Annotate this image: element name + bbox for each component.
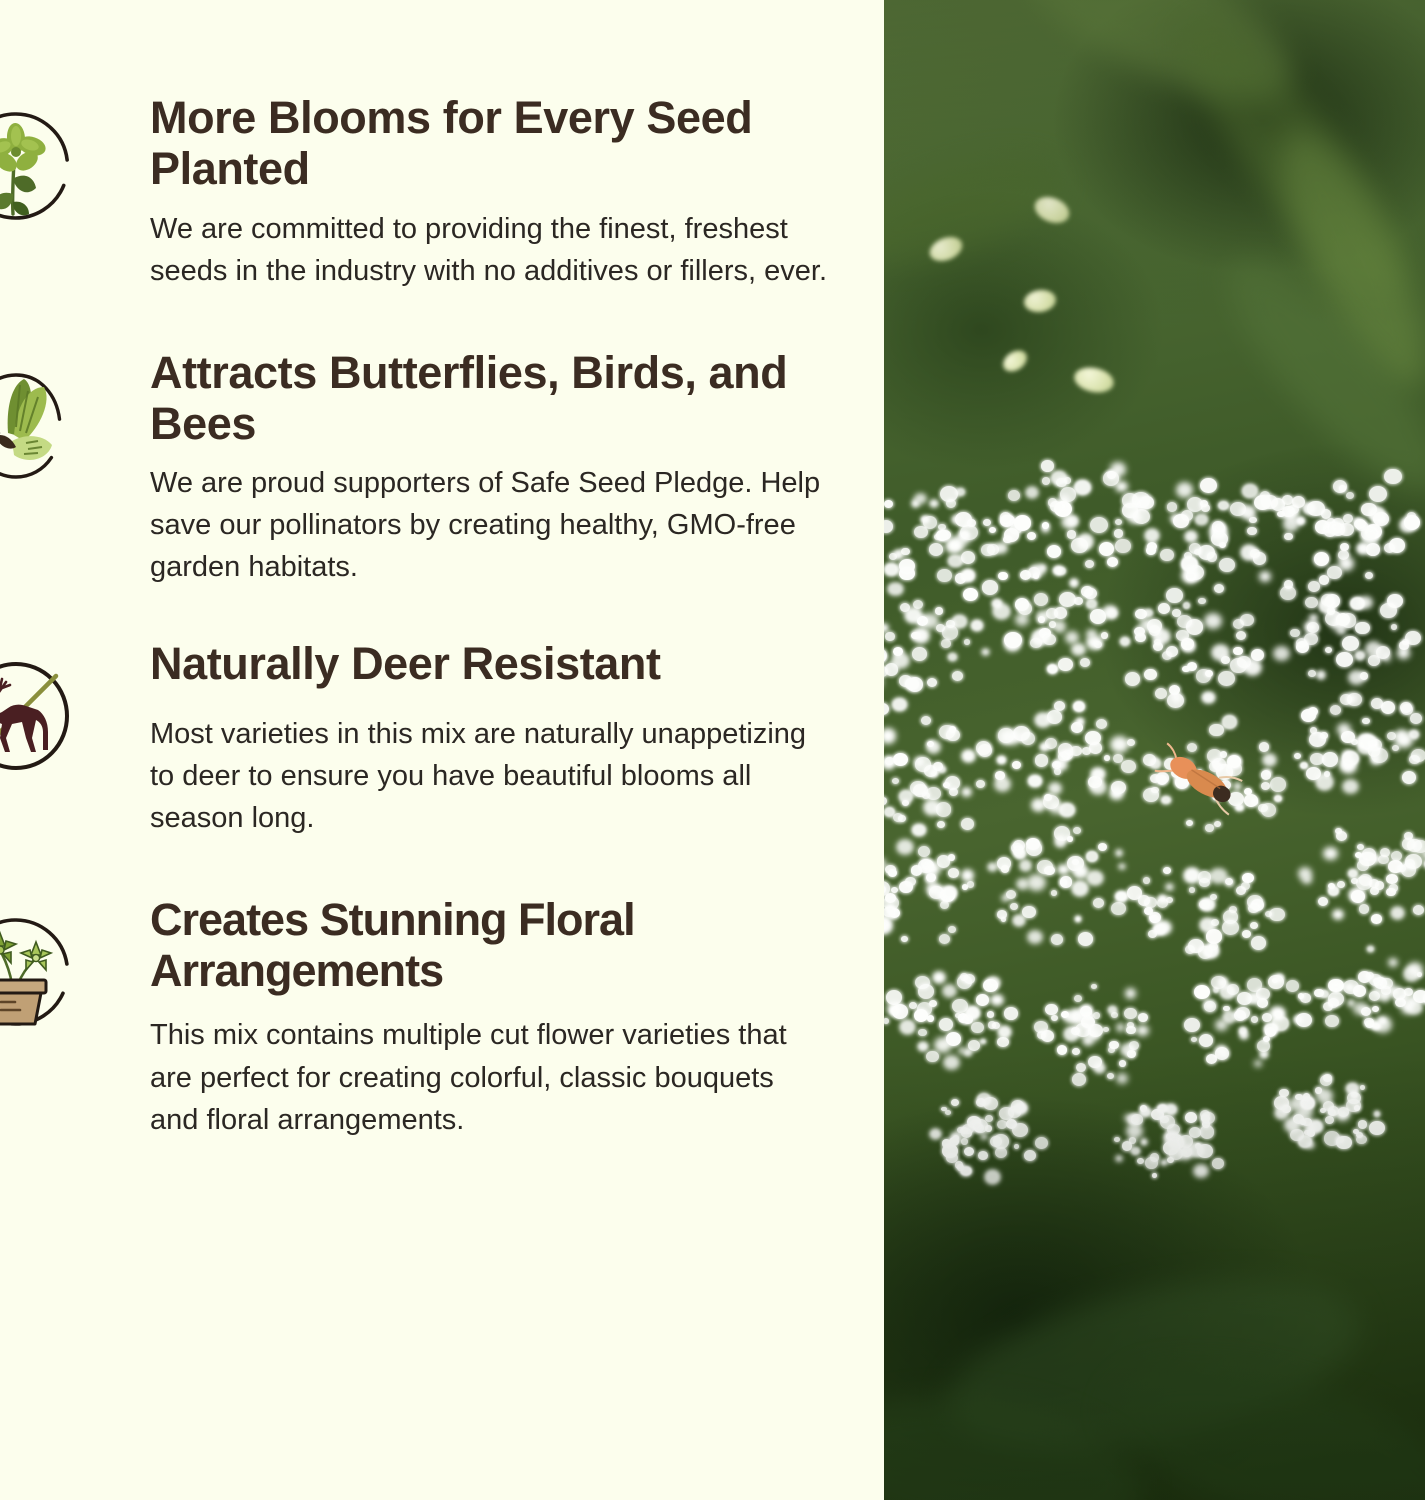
flower-floret <box>933 972 945 983</box>
flower-floret <box>1072 644 1085 656</box>
flower-floret <box>1389 884 1397 892</box>
flower-floret <box>1305 597 1318 609</box>
benefit-item: Naturally Deer Resistant Most varieties … <box>0 638 884 838</box>
flower-floret <box>1369 1121 1385 1135</box>
flower-floret <box>945 1110 951 1116</box>
flower-floret <box>1127 1050 1137 1059</box>
flower-floret <box>974 1123 982 1130</box>
flower-floret <box>942 1144 958 1158</box>
flower-floret <box>1357 844 1364 850</box>
flower-floret <box>1143 877 1151 884</box>
flower-floret <box>1338 724 1350 735</box>
benefit-description: This mix contains multiple cut flower va… <box>150 1014 829 1140</box>
flower-in-circle-icon <box>0 102 80 230</box>
flower-floret <box>1028 875 1045 890</box>
flower-floret <box>1347 694 1357 703</box>
flower-floret <box>940 901 950 910</box>
flower-floret <box>1411 749 1425 763</box>
flower-floret <box>955 1013 961 1019</box>
potted-plant-in-circle-icon <box>0 908 80 1036</box>
flower-floret <box>1336 1109 1349 1120</box>
flower-floret <box>1320 1108 1326 1113</box>
flower-floret <box>971 1022 984 1033</box>
flower-floret <box>929 543 943 556</box>
flower-floret <box>1205 614 1221 629</box>
flower-floret <box>913 600 923 609</box>
flower-floret <box>951 1099 959 1106</box>
flower-floret <box>948 926 956 933</box>
flower-floret <box>939 1018 953 1031</box>
benefit-item: Attracts Butterflies, Birds, and Bees We… <box>0 347 884 589</box>
flower-floret <box>1387 732 1396 740</box>
flower-floret <box>1122 1141 1133 1151</box>
flower-floret <box>946 729 960 742</box>
flower-floret <box>1141 1139 1148 1145</box>
flower-floret <box>884 703 889 715</box>
flower-floret <box>1067 530 1076 538</box>
flower-floret <box>1227 880 1234 886</box>
flower-floret <box>1279 1089 1289 1098</box>
flower-floret <box>1317 1089 1333 1103</box>
flower-floret <box>1137 1026 1147 1035</box>
flower-floret <box>1314 552 1329 566</box>
flower-floret <box>1199 900 1210 910</box>
flower-floret <box>936 802 952 816</box>
flower-floret <box>930 770 938 777</box>
flower-floret <box>964 639 971 645</box>
flower-floret <box>1379 991 1390 1001</box>
flower-floret <box>1355 651 1365 660</box>
flower-floret <box>1325 1116 1334 1124</box>
flower-floret <box>1230 658 1246 673</box>
flower-floret <box>912 500 920 507</box>
flower-floret <box>1205 670 1213 677</box>
flower-floret <box>1016 614 1028 625</box>
flower-floret <box>1166 646 1179 657</box>
flower-floret <box>1402 838 1415 850</box>
flower-floret <box>1240 614 1254 627</box>
flower-floret <box>914 526 928 539</box>
flower-floret <box>1091 984 1097 990</box>
flower-floret <box>1261 770 1272 780</box>
flower-floret <box>1380 848 1390 857</box>
flower-floret <box>1138 1013 1148 1022</box>
flower-floret <box>893 647 903 656</box>
flower-floret <box>885 632 895 641</box>
flower-floret <box>1398 648 1409 658</box>
flower-floret <box>1176 630 1189 641</box>
flower-floret <box>1248 904 1258 913</box>
flower-floret <box>884 729 895 742</box>
flower-floret <box>1257 1040 1270 1052</box>
flower-floret <box>997 756 1005 764</box>
flower-floret <box>1327 566 1342 580</box>
flower-floret <box>943 985 956 997</box>
soldier-beetle <box>1150 740 1254 820</box>
flower-floret <box>1307 501 1325 517</box>
flower-floret <box>1140 496 1154 509</box>
flower-floret <box>1392 745 1399 751</box>
flower-floret <box>1268 975 1284 989</box>
flower-floret <box>1134 627 1144 636</box>
flower-floret <box>884 797 887 805</box>
flower-floret <box>983 1097 998 1111</box>
flower-floret <box>1218 501 1229 510</box>
flower-floret <box>1050 501 1062 512</box>
flower-floret <box>1145 1157 1158 1169</box>
flower-floret <box>1056 478 1067 488</box>
flower-floret <box>1087 871 1103 886</box>
flower-floret <box>1402 771 1416 784</box>
flower-floret <box>1163 1141 1179 1155</box>
flower-floret <box>893 753 908 767</box>
flower-floret <box>1122 503 1139 518</box>
flower-floret <box>1120 637 1131 647</box>
flower-floret <box>963 588 978 602</box>
flower-floret <box>961 569 975 582</box>
flower-floret <box>1137 1158 1144 1164</box>
flower-floret <box>1014 1144 1020 1149</box>
benefit-description: Most varieties in this mix are naturally… <box>150 713 829 839</box>
flower-floret <box>1355 852 1362 858</box>
flower-floret <box>1124 1008 1137 1020</box>
flower-floret <box>1043 634 1055 645</box>
flower-floret <box>1184 868 1201 883</box>
flower-floret <box>1000 512 1011 522</box>
flower-floret <box>1073 827 1081 834</box>
flower-floret <box>1354 1003 1366 1014</box>
flower-floret <box>1155 688 1167 699</box>
flower-floret <box>964 974 975 984</box>
flower-floret <box>1127 1022 1133 1028</box>
flower-floret <box>1101 632 1109 639</box>
flower-floret <box>927 678 937 687</box>
benefit-description: We are committed to providing the finest… <box>150 208 829 292</box>
flower-floret <box>1108 1006 1116 1014</box>
flower-floret <box>1254 495 1271 510</box>
flower-floret <box>1072 881 1089 896</box>
flower-floret <box>1339 485 1347 492</box>
flower-floret <box>1290 629 1300 638</box>
flower-floret <box>1314 989 1323 998</box>
flower-floret <box>1115 539 1130 553</box>
flower-floret <box>1274 795 1282 802</box>
flower-floret <box>1194 985 1210 999</box>
flower-floret <box>959 1048 965 1053</box>
flower-floret <box>1167 502 1178 512</box>
flower-floret <box>1251 936 1266 950</box>
flower-floret <box>1342 751 1359 766</box>
flower-floret <box>1236 1007 1250 1019</box>
flower-floret <box>1255 1061 1261 1066</box>
flower-floret <box>1083 1036 1093 1045</box>
product-benefits-page: More Blooms for Every Seed Planted We ar… <box>0 0 1425 1500</box>
flower-floret <box>1284 580 1294 589</box>
flower-floret <box>1037 860 1053 874</box>
flower-floret <box>1207 552 1217 561</box>
flower-floret <box>937 821 945 828</box>
butterfly-in-circle-icon <box>0 361 80 489</box>
flower-floret <box>1103 471 1119 486</box>
flower-floret <box>1028 775 1042 788</box>
flower-floret <box>1177 483 1192 497</box>
flower-floret <box>962 870 974 880</box>
benefits-panel: More Blooms for Every Seed Planted We ar… <box>0 0 884 1500</box>
flower-floret <box>1047 545 1061 558</box>
flower-floret <box>1115 891 1128 902</box>
flower-floret <box>1358 1120 1367 1128</box>
flower-floret <box>921 716 931 725</box>
flower-floret <box>1093 898 1104 908</box>
flower-floret <box>1125 672 1140 686</box>
flower-floret <box>1261 803 1276 817</box>
flower-floret <box>1251 649 1265 661</box>
flower-floret <box>967 881 975 888</box>
flower-floret <box>1260 1051 1268 1058</box>
flower-floret <box>1187 662 1198 671</box>
flower-floret <box>1263 754 1276 766</box>
flower-floret <box>1384 469 1401 485</box>
flower-floret <box>1205 824 1214 832</box>
flower-floret <box>1194 1165 1208 1177</box>
flower-floret <box>1047 664 1059 675</box>
flower-floret <box>1017 879 1028 889</box>
flower-floret <box>1067 856 1084 871</box>
flower-floret <box>1126 989 1136 998</box>
flower-floret <box>976 780 985 788</box>
flower-floret <box>1195 514 1207 525</box>
flower-floret <box>1012 1123 1028 1137</box>
flower-floret <box>1360 1085 1366 1090</box>
flower-floret <box>1211 532 1228 547</box>
flower-floret <box>1070 579 1078 586</box>
flower-floret <box>909 1002 917 1009</box>
flower-floret <box>1114 1137 1120 1142</box>
flower-floret <box>1075 916 1081 922</box>
flower-floret <box>952 671 963 681</box>
flower-floret <box>995 1147 1007 1158</box>
flower-floret <box>941 639 951 648</box>
deer-no-entry-icon <box>0 652 80 780</box>
flower-floret <box>1336 613 1350 626</box>
flower-floret <box>1090 780 1106 794</box>
flower-floret <box>1064 1012 1075 1022</box>
flower-floret <box>1214 821 1221 827</box>
flower-floret <box>1343 780 1358 793</box>
flower-floret <box>1086 851 1098 862</box>
flower-floret <box>962 788 971 796</box>
flower-floret <box>1166 897 1173 903</box>
flower-floret <box>1261 782 1270 790</box>
flower-floret <box>1337 1137 1344 1143</box>
flower-floret <box>1409 730 1419 739</box>
flower-floret <box>1359 904 1370 914</box>
flower-floret <box>1325 647 1332 653</box>
flower-floret <box>1259 742 1270 752</box>
flower-floret <box>1045 1004 1058 1016</box>
flower-floret <box>1049 621 1057 628</box>
flower-floret <box>1322 752 1338 766</box>
flower-floret <box>1336 652 1353 667</box>
flower-floret <box>1116 482 1127 492</box>
flower-floret <box>961 1138 969 1145</box>
flower-floret <box>1011 1100 1024 1112</box>
flower-floret <box>1386 874 1398 885</box>
flower-floret <box>943 886 958 899</box>
flower-floret <box>948 868 959 878</box>
flower-floret <box>946 620 955 628</box>
flower-floret <box>1072 1048 1080 1055</box>
flower-floret <box>1030 638 1041 648</box>
flower-floret <box>1212 1158 1224 1169</box>
flower-floret <box>1372 1006 1379 1012</box>
flower-floret <box>985 1170 1000 1183</box>
flower-floret <box>1051 1015 1058 1021</box>
flower-floret <box>948 854 955 860</box>
flower-floret <box>938 766 946 773</box>
flower-floret <box>1028 931 1042 943</box>
flower-floret <box>968 1040 980 1051</box>
flower-floret <box>1064 1027 1079 1041</box>
flower-floret <box>1058 865 1069 875</box>
benefit-title: Attracts Butterflies, Birds, and Bees <box>150 347 829 450</box>
flower-floret <box>1230 502 1246 517</box>
flower-floret <box>1183 602 1191 609</box>
flower-floret <box>1211 976 1225 989</box>
flower-floret <box>914 1009 928 1022</box>
flower-floret <box>1227 984 1239 995</box>
flower-floret <box>1051 934 1063 945</box>
flower-floret <box>987 1011 994 1018</box>
flower-floret <box>1191 1037 1198 1043</box>
flower-floret <box>1004 1007 1018 1019</box>
flower-floret <box>1342 636 1359 651</box>
flower-floret <box>1348 869 1358 878</box>
flower-floret <box>1294 753 1301 759</box>
flower-floret <box>930 1129 942 1139</box>
flower-floret <box>1215 1047 1229 1060</box>
flower-floret <box>997 857 1012 870</box>
flower-floret <box>1219 558 1235 572</box>
flower-floret <box>998 1026 1012 1038</box>
flower-floret <box>981 544 995 557</box>
flower-floret <box>1320 732 1327 739</box>
flower-floret <box>1018 602 1032 615</box>
flower-floret <box>1144 907 1153 916</box>
benefit-description: We are proud supporters of Safe Seed Ple… <box>150 462 829 588</box>
flower-floret <box>1284 507 1299 520</box>
flower-floret <box>1369 507 1385 521</box>
flower-floret <box>1209 724 1223 737</box>
flower-floret <box>998 572 1008 581</box>
flower-floret <box>1054 607 1067 619</box>
flower-floret <box>892 778 899 784</box>
flower-floret <box>1216 1020 1227 1030</box>
flower-floret <box>1115 519 1122 525</box>
flower-floret <box>884 563 899 576</box>
flower-floret <box>1182 641 1194 652</box>
flower-floret <box>976 994 989 1006</box>
flower-floret <box>997 1037 1009 1048</box>
flower-floret <box>1020 860 1031 870</box>
flower-floret <box>1070 746 1082 757</box>
flower-floret <box>1298 1135 1312 1148</box>
flower-floret <box>915 758 924 766</box>
flower-floret <box>1152 1173 1158 1178</box>
flower-floret <box>1214 584 1224 593</box>
flower-floret <box>981 1134 987 1140</box>
flower-floret <box>989 527 996 533</box>
flower-floret <box>911 632 920 640</box>
flower-floret <box>1160 549 1173 561</box>
flower-floret <box>1336 831 1347 841</box>
flower-floret <box>1282 1105 1290 1113</box>
flower-floret <box>1166 884 1173 890</box>
flower-floret <box>1202 692 1215 703</box>
flower-floret <box>952 999 968 1013</box>
flower-floret <box>1104 755 1111 761</box>
flower-floret <box>1088 1056 1102 1068</box>
flower-floret <box>1145 529 1160 542</box>
flower-floret <box>1060 879 1067 886</box>
flower-floret <box>1107 1073 1114 1079</box>
flower-floret <box>1375 1017 1391 1031</box>
flower-floret <box>1012 761 1021 769</box>
flower-floret <box>1308 581 1320 592</box>
flower-floret <box>1260 572 1270 581</box>
flower-floret <box>1270 777 1286 792</box>
flower-floret <box>1091 768 1105 781</box>
flower-floret <box>927 741 934 747</box>
flower-floret <box>971 620 984 631</box>
flower-floret <box>1129 1041 1140 1050</box>
flower-floret <box>1184 1018 1200 1032</box>
flower-floret <box>1407 1001 1422 1014</box>
flower-floret <box>1021 732 1035 745</box>
flower-floret <box>964 1147 974 1156</box>
flower-floret <box>1360 672 1368 680</box>
flower-floret <box>891 887 898 894</box>
flower-floret <box>1346 492 1354 499</box>
flower-floret <box>983 519 991 526</box>
flower-floret <box>1103 1027 1109 1033</box>
flower-floret <box>1310 615 1317 621</box>
flower-floret <box>1001 917 1007 922</box>
flower-floret <box>1004 632 1022 648</box>
flower-floret <box>885 865 895 874</box>
flower-floret <box>1250 549 1260 558</box>
flower-floret <box>1186 820 1193 826</box>
flower-floret <box>1328 992 1344 1006</box>
flower-floret <box>949 788 958 796</box>
flower-floret <box>1321 594 1334 606</box>
flower-floret <box>1351 1092 1358 1099</box>
flower-floret <box>939 934 950 944</box>
flower-floret <box>1098 843 1108 852</box>
flower-floret <box>1210 869 1226 884</box>
flower-floret <box>1034 593 1048 606</box>
flower-floret <box>1047 710 1062 724</box>
flower-floret <box>1076 1063 1086 1072</box>
flower-floret <box>948 653 957 661</box>
flower-floret <box>1198 598 1206 605</box>
flower-floret <box>1210 894 1217 901</box>
flower-floret <box>1157 1104 1168 1114</box>
flower-floret <box>1166 588 1183 603</box>
flower-floret <box>1380 603 1397 618</box>
flower-floret <box>1371 914 1382 924</box>
flower-floret <box>1274 647 1289 660</box>
